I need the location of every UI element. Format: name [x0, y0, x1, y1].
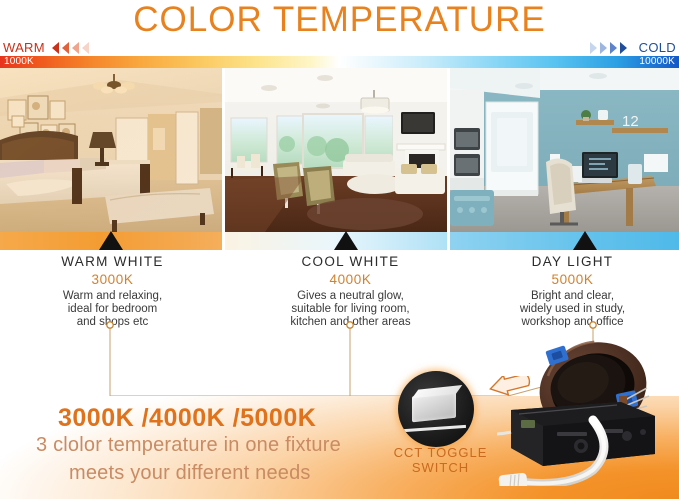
footer-kelvin-headline: 3000K /4000K /5000K [58, 404, 316, 433]
scene-name: WARM WHITE [5, 254, 220, 270]
recessed-light [515, 83, 533, 89]
cup [628, 164, 642, 184]
desc-line: and shops etc [5, 316, 220, 329]
cold-chevron-icon-4 [590, 42, 597, 54]
kelvin-min-label: 1000K [4, 56, 34, 68]
desc-line: kitchen and other areas [243, 316, 458, 329]
warm-chevron-icon-3 [72, 42, 79, 54]
svg-text:12: 12 [622, 113, 639, 130]
caption-warm-white: WARM WHITE 3000K Warm and relaxing, idea… [5, 254, 220, 329]
keyboard [578, 178, 612, 183]
tint-day-light [450, 232, 679, 250]
desc-line: Gives a neutral glow, [243, 290, 458, 303]
room-photo-day-light: 12 [450, 68, 679, 232]
temperature-scale-arrows: WARM COLD [0, 40, 679, 56]
toggle-switch-block [412, 392, 456, 423]
recessed-light [316, 104, 330, 109]
home-office-illustration: 12 [450, 68, 679, 232]
internal-connector [521, 420, 535, 428]
switch-base-bar [404, 425, 466, 432]
scene-tint-bar [0, 232, 679, 250]
recessed-light [261, 85, 277, 91]
ottoman [347, 174, 403, 194]
scene-kelvin: 3000K [5, 271, 220, 288]
pointer-triangle-warm-white [99, 231, 123, 250]
recessed-light [317, 75, 333, 81]
cold-label: COLD [639, 40, 676, 56]
scene-kelvin: 4000K [243, 271, 458, 288]
living-room-illustration [225, 68, 447, 232]
caption-cool-white: COOL WHITE 4000K Gives a neutral glow, s… [243, 254, 458, 329]
room-photo-cool-white [225, 68, 447, 232]
footer-tagline-line1: 3 clolor temperature in one fixture [36, 434, 341, 457]
cable-plug [498, 473, 527, 486]
scene-description: Gives a neutral glow, suitable for livin… [243, 290, 458, 329]
cct-label-line1: CCT TOGGLE [383, 445, 498, 460]
recessed-downlight-product [497, 336, 679, 486]
warm-chevron-icon-1 [52, 42, 59, 54]
area-rug [307, 198, 423, 230]
pointer-triangle-cool-white [334, 231, 358, 250]
warm-chevron-icon-4 [82, 42, 89, 54]
recessed-light [589, 73, 607, 79]
desc-line: suitable for living room, [243, 303, 458, 316]
scene-kelvin: 5000K [465, 271, 679, 288]
scene-description: Bright and clear, widely used in study, … [465, 290, 679, 329]
desc-line: ideal for bedroom [5, 303, 220, 316]
lead-wire [497, 432, 511, 434]
kelvin-max-label: 10000K [639, 56, 675, 68]
junction-box [511, 402, 655, 466]
warm-chevron-icon-2 [62, 42, 69, 54]
scene-name: COOL WHITE [243, 254, 458, 270]
desc-line: widely used in study, [465, 303, 679, 316]
pointer-triangle-day-light [573, 231, 597, 250]
footer-tagline-line2: meets your different needs [69, 462, 311, 485]
scene-description: Warm and relaxing, ideal for bedroom and… [5, 290, 220, 329]
room-photo-warm-white [0, 68, 222, 232]
cold-chevron-icon-2 [610, 42, 617, 54]
page-title: COLOR TEMPERATURE [0, 0, 679, 41]
infographic-root: COLOR TEMPERATURE WARM COLD 1000K 10000K [0, 0, 679, 499]
caption-day-light: DAY LIGHT 5000K Bright and clear, widely… [465, 254, 679, 329]
cct-label-line2: SWITCH [383, 460, 498, 475]
bedroom-illustration [0, 68, 222, 232]
warm-label: WARM [3, 40, 45, 56]
desc-line: Bright and clear, [465, 290, 679, 303]
cold-chevron-icon-1 [620, 42, 627, 54]
cold-chevron-icon-3 [600, 42, 607, 54]
desc-line: workshop and office [465, 316, 679, 329]
desc-line: Warm and relaxing, [5, 290, 220, 303]
wall-frame [644, 154, 668, 172]
kelvin-gradient-bar [0, 56, 679, 68]
scene-name: DAY LIGHT [465, 254, 679, 270]
cct-toggle-switch-label: CCT TOGGLE SWITCH [383, 445, 498, 475]
room-photo-strip: 12 [0, 68, 679, 232]
